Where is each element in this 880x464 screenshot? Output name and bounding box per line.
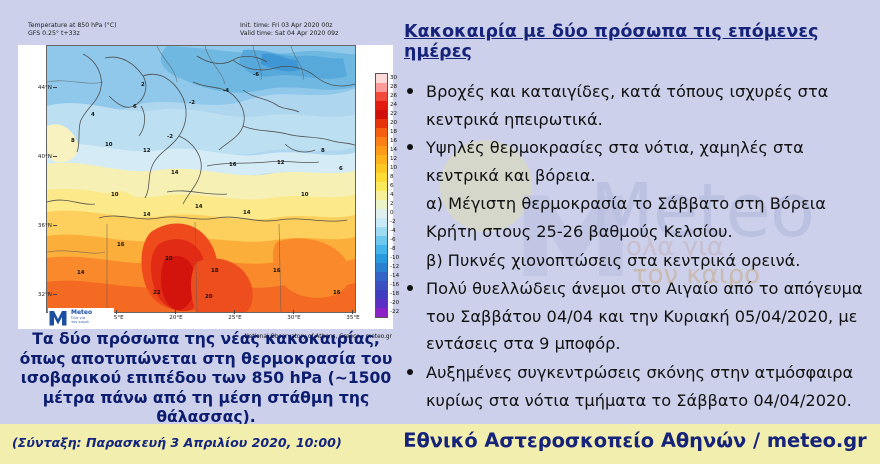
y-axis-tick: 40°N: [30, 154, 52, 160]
svg-text:4: 4: [91, 112, 95, 118]
x-tick-label: 20°E: [169, 315, 182, 321]
svg-text:-2: -2: [189, 100, 195, 106]
colorbar-tick-label: -6: [390, 237, 396, 243]
bullet-dot-icon: [407, 369, 413, 375]
colorbar-segment: [376, 173, 387, 182]
colorbar-segment: [376, 263, 387, 272]
colorbar-segment: [376, 137, 387, 146]
colorbar-segment: [376, 83, 387, 92]
svg-text:6: 6: [133, 104, 137, 110]
svg-text:8: 8: [71, 138, 75, 144]
colorbar-tick-label: 8: [390, 174, 394, 180]
meteo-logo-name: Meteo: [71, 309, 92, 316]
svg-text:-6: -6: [253, 72, 259, 78]
y-axis-tick: 32°N: [30, 292, 52, 298]
colorbar-segment: [376, 272, 387, 281]
weather-map-figure[interactable]: Temperature at 850 hPa (°C)GFS 0.25° t+3…: [18, 21, 393, 329]
colorbar-segment: [376, 164, 387, 173]
x-axis-tick: 20°E: [163, 315, 189, 321]
figure-init-time: Init. time: Fri 03 Apr 2020 00z: [240, 22, 333, 29]
bullet-dot-icon: [407, 88, 413, 94]
bullet-item: Αυξημένες συγκεντρώσεις σκόνης στην ατμό…: [398, 359, 876, 414]
colorbar-tick-label: 24: [390, 102, 397, 108]
colorbar-segment: [376, 308, 387, 317]
svg-text:18: 18: [211, 268, 219, 274]
svg-text:10: 10: [111, 192, 119, 198]
colorbar-segment: [376, 236, 387, 245]
svg-text:14: 14: [171, 170, 179, 176]
x-axis-tick: 30°E: [281, 315, 307, 321]
bullet-text: Αυξημένες συγκεντρώσεις σκόνης στην ατμό…: [426, 363, 853, 410]
svg-text:6: 6: [339, 166, 343, 172]
svg-text:-2: -2: [167, 134, 173, 140]
slide-canvas: Meteo όλα για τον καιρό Temperature at 8…: [0, 0, 880, 464]
meteo-logo-sub-1: Όλα για: [71, 316, 85, 320]
svg-text:14: 14: [243, 210, 251, 216]
meteo-logo-sub-2: τον καιρό: [71, 320, 89, 324]
y-tick-label: 44°N: [38, 85, 52, 91]
colorbar-tick-label: -4: [390, 228, 396, 234]
colorbar-tick-label: 4: [390, 192, 394, 198]
colorbar-segment: [376, 92, 387, 101]
temperature-colorbar: [375, 73, 388, 318]
colorbar-segment: [376, 218, 387, 227]
svg-text:12: 12: [143, 148, 151, 154]
svg-text:22: 22: [153, 290, 161, 296]
y-axis-tick: 44°N: [30, 85, 52, 91]
svg-text:14: 14: [77, 270, 85, 276]
colorbar-segment: [376, 245, 387, 254]
sub-item: β) Πυκνές χιονοπτώσεις στα κεντρικά ορει…: [398, 247, 876, 275]
colorbar-tick-label: 14: [390, 147, 397, 153]
map-caption: Τα δύο πρόσωπα της νέας κακοκαιρίας, όπω…: [16, 330, 396, 428]
svg-text:14: 14: [195, 204, 203, 210]
temperature-field: 46 810 12-2 -4-6 1416 128 1014 1414 106 …: [47, 46, 356, 313]
colorbar-segment: [376, 191, 387, 200]
bullet-dot-icon: [407, 144, 413, 150]
bullet-list: Βροχές και καταιγίδες, κατά τόπους ισχυρ…: [398, 78, 876, 415]
svg-text:20: 20: [205, 294, 213, 300]
figure-title: Temperature at 850 hPa (°C)GFS 0.25° t+3…: [28, 22, 117, 38]
bullet-dot-icon: [407, 285, 413, 291]
colorbar-tick-label: 18: [390, 129, 397, 135]
footer-bar: (Σύνταξη: Παρασκευή 3 Απριλίου 2020, 10:…: [0, 424, 880, 464]
page-title: Κακοκαιρία με δύο πρόσωπα τις επόμενες η…: [404, 22, 874, 62]
svg-text:16: 16: [229, 162, 237, 168]
colorbar-tick-label: 20: [390, 120, 397, 126]
bullet-text: α) Μέγιστη θερμοκρασία το Σάββατο στη Βό…: [426, 194, 826, 241]
x-axis-tick: 35°E: [340, 315, 366, 321]
colorbar-segment: [376, 227, 387, 236]
colorbar-tick-label: 26: [390, 93, 397, 99]
svg-text:10: 10: [301, 192, 309, 198]
svg-text:8: 8: [321, 148, 325, 154]
svg-text:10: 10: [105, 142, 113, 148]
colorbar-segment: [376, 74, 387, 83]
colorbar-segment: [376, 209, 387, 218]
y-axis-tick: 36°N: [30, 223, 52, 229]
bullet-item: Πολύ θυελλώδεις άνεμοι στο Αιγαίο από το…: [398, 275, 876, 358]
colorbar-segment: [376, 110, 387, 119]
svg-text:20: 20: [165, 256, 173, 262]
colorbar-tick-label: 28: [390, 84, 397, 90]
colorbar-segment: [376, 128, 387, 137]
y-tick-label: 36°N: [38, 223, 52, 229]
colorbar-segment: [376, 254, 387, 263]
x-axis-tick: 25°E: [222, 315, 248, 321]
svg-text:16: 16: [333, 290, 341, 296]
footer-timestamp: (Σύνταξη: Παρασκευή 3 Απριλίου 2020, 10:…: [12, 435, 342, 450]
colorbar-segment: [376, 146, 387, 155]
map-plot-area[interactable]: 46 810 12-2 -4-6 1416 128 1014 1414 106 …: [46, 45, 356, 313]
svg-text:12: 12: [277, 160, 285, 166]
y-tick-label: 40°N: [38, 154, 52, 160]
svg-text:2: 2: [141, 82, 145, 88]
svg-text:16: 16: [117, 242, 125, 248]
colorbar-segment: [376, 101, 387, 110]
svg-text:16: 16: [273, 268, 281, 274]
meteo-m-icon: [48, 308, 68, 328]
figure-time-info: Init. time: Fri 03 Apr 2020 00zValid tim…: [240, 22, 338, 38]
colorbar-segment: [376, 299, 387, 308]
meteo-logo-sub: Όλα γιατον καιρό: [71, 316, 89, 325]
figure-title-line1: Temperature at 850 hPa (°C): [28, 22, 117, 29]
colorbar-tick-label: 22: [390, 111, 397, 117]
figure-title-line2: GFS 0.25° t+33z: [28, 30, 80, 37]
bullet-item: Βροχές και καταιγίδες, κατά τόπους ισχυρ…: [398, 78, 876, 133]
colorbar-tick-label: 30: [390, 75, 397, 81]
colorbar-segment: [376, 290, 387, 299]
colorbar-tick-label: -2: [390, 219, 396, 225]
bullet-item: Υψηλές θερμοκρασίες στα νότια, χαμηλές σ…: [398, 134, 876, 189]
footer-organization: Εθνικό Αστεροσκοπείο Αθηνών / meteo.gr: [400, 429, 870, 452]
colorbar-tick-label: 12: [390, 156, 397, 162]
x-tick-label: 35°E: [346, 315, 359, 321]
y-tick-label: 32°N: [38, 292, 52, 298]
x-tick-label: 25°E: [228, 315, 241, 321]
colorbar-tick-label: 0: [390, 210, 394, 216]
bullet-text: Βροχές και καταιγίδες, κατά τόπους ισχυρ…: [426, 82, 828, 129]
colorbar-segment: [376, 200, 387, 209]
x-tick-label: 30°E: [287, 315, 300, 321]
colorbar-tick-label: 2: [390, 201, 394, 207]
sub-item: α) Μέγιστη θερμοκρασία το Σάββατο στη Βό…: [398, 190, 876, 245]
bullet-text: β) Πυκνές χιονοπτώσεις στα κεντρικά ορει…: [426, 251, 800, 270]
colorbar-segment: [376, 182, 387, 191]
colorbar-segment: [376, 281, 387, 290]
meteo-logo[interactable]: Meteo Όλα γιατον καιρό: [48, 308, 114, 328]
svg-text:-4: -4: [223, 88, 229, 94]
colorbar-tick-label: 10: [390, 165, 397, 171]
colorbar-tick-label: 16: [390, 138, 397, 144]
colorbar-tick-label: -8: [390, 246, 396, 252]
colorbar-tick-label: 6: [390, 183, 394, 189]
colorbar-segment: [376, 119, 387, 128]
svg-text:14: 14: [143, 212, 151, 218]
figure-valid-time: Valid time: Sat 04 Apr 2020 09z: [240, 30, 338, 37]
bullet-text: Πολύ θυελλώδεις άνεμοι στο Αιγαίο από το…: [426, 279, 863, 353]
colorbar-segment: [376, 155, 387, 164]
bullet-text: Υψηλές θερμοκρασίες στα νότια, χαμηλές σ…: [426, 138, 804, 185]
